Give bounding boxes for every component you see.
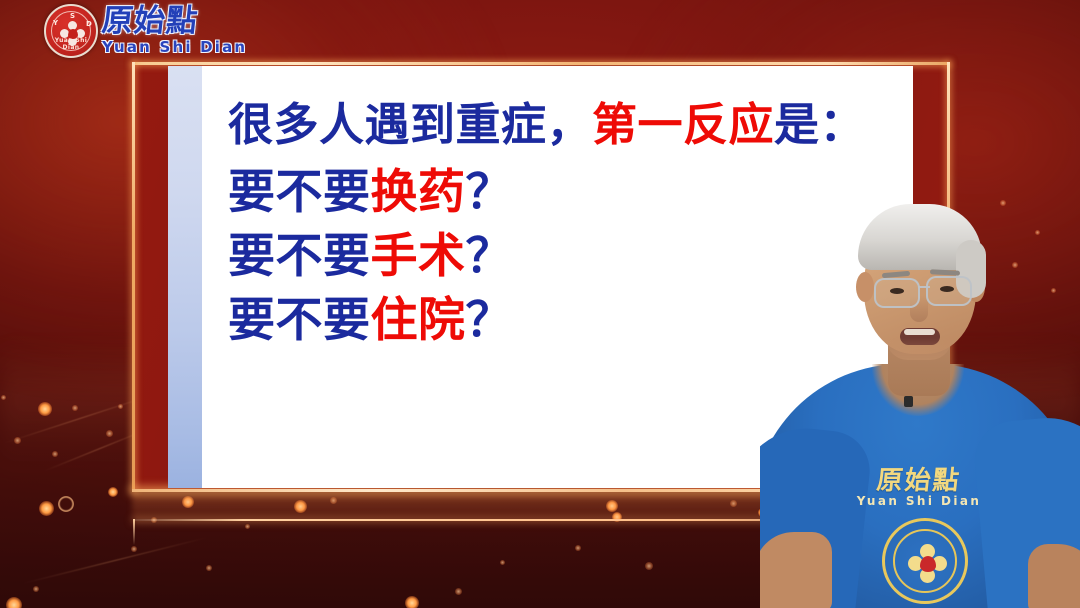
slide-line-2-seg-2: 换药 xyxy=(371,165,466,220)
shirt-emblem-flower-icon xyxy=(909,545,947,583)
lapel-microphone-icon xyxy=(904,396,913,407)
slide-line-3-seg-1: 要不要 xyxy=(228,229,371,284)
decorative-accent-tick xyxy=(133,519,135,545)
speaker-arm-right xyxy=(1028,544,1080,608)
brand-name-cn: 原始點 xyxy=(100,2,240,40)
slide-line-1-seg-3: 是： xyxy=(774,98,865,151)
slide-line-4-seg-2: 住院 xyxy=(371,293,466,348)
brand-name-en: Yuan Shi Dian xyxy=(102,38,247,56)
slide-line-4-seg-3: ？ xyxy=(466,293,514,348)
shirt-emblem-icon xyxy=(882,518,968,604)
video-frame: 很多人遇到重症，第一反应是： 要不要换药？ 要不要手术？ 要不要住院？ xyxy=(0,0,1080,608)
eyeglasses-bridge-icon xyxy=(918,286,930,288)
speaker-eye-left xyxy=(890,288,904,294)
speaker-eye-right xyxy=(940,286,954,292)
slide-line-1-seg-1: 很多人遇到重症， xyxy=(228,98,592,151)
speaker-teeth xyxy=(904,329,935,335)
speaker-figure: 原始點 Yuan Shi Dian xyxy=(760,188,1080,608)
seal-arc-text: Yuan Shi Dian xyxy=(46,37,96,51)
seal-logo-icon: Y S D Yuan Shi Dian xyxy=(44,4,98,58)
slide-line-4-seg-1: 要不要 xyxy=(228,293,371,348)
slide-line-3-seg-2: 手术 xyxy=(371,229,466,284)
seal-letter-s: S xyxy=(70,12,75,20)
slide-line-2-seg-3: ？ xyxy=(466,165,514,220)
slide-line-2-seg-1: 要不要 xyxy=(228,165,371,220)
shirt-brand-cn: 原始點 xyxy=(842,460,996,497)
shirt-brand-en: Yuan Shi Dian xyxy=(844,494,994,508)
speaker-ear-left xyxy=(856,272,874,302)
seal-letter-d: D xyxy=(86,20,92,28)
slide-line-3-seg-3: ？ xyxy=(466,229,514,284)
speaker-arm-left xyxy=(760,532,832,608)
frame-border-left xyxy=(132,62,135,492)
slide-line-1: 很多人遇到重症，第一反应是： xyxy=(228,102,907,147)
frame-border-top xyxy=(132,62,950,65)
seal-letter-y: Y xyxy=(53,19,58,27)
slide-accent-band xyxy=(168,66,202,488)
emblem-heart-icon xyxy=(920,556,936,572)
slide-line-1-seg-2: 第一反应 xyxy=(592,98,774,151)
channel-watermark: Y S D Yuan Shi Dian 原始點 Yuan Shi Dian xyxy=(44,2,240,58)
